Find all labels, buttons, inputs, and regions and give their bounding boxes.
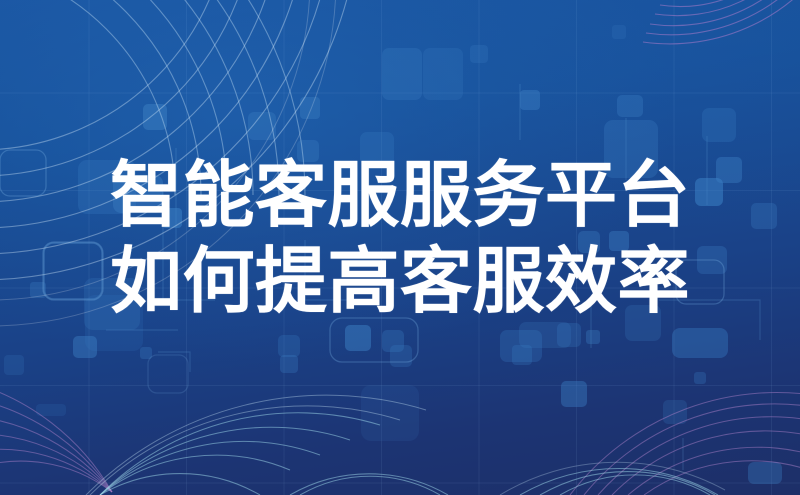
page-title: 智能客服服务平台 如何提高客服效率 xyxy=(0,152,800,324)
arc-family-purple-br xyxy=(570,393,800,495)
arc-family-purple-tr xyxy=(643,0,800,44)
arc-family-cyan-br-wide xyxy=(500,462,725,495)
arc-family-cyan-bl xyxy=(100,413,380,495)
title-line-2: 如何提高客服效率 xyxy=(0,238,800,324)
banner-canvas: 智能客服服务平台 如何提高客服效率 xyxy=(0,0,800,495)
arc-family-cyan-br xyxy=(290,468,718,495)
title-line-1: 智能客服服务平台 xyxy=(0,152,800,238)
arc-family-purple-bl xyxy=(0,382,112,492)
arc-family-cyan-bl-wide xyxy=(86,395,426,495)
